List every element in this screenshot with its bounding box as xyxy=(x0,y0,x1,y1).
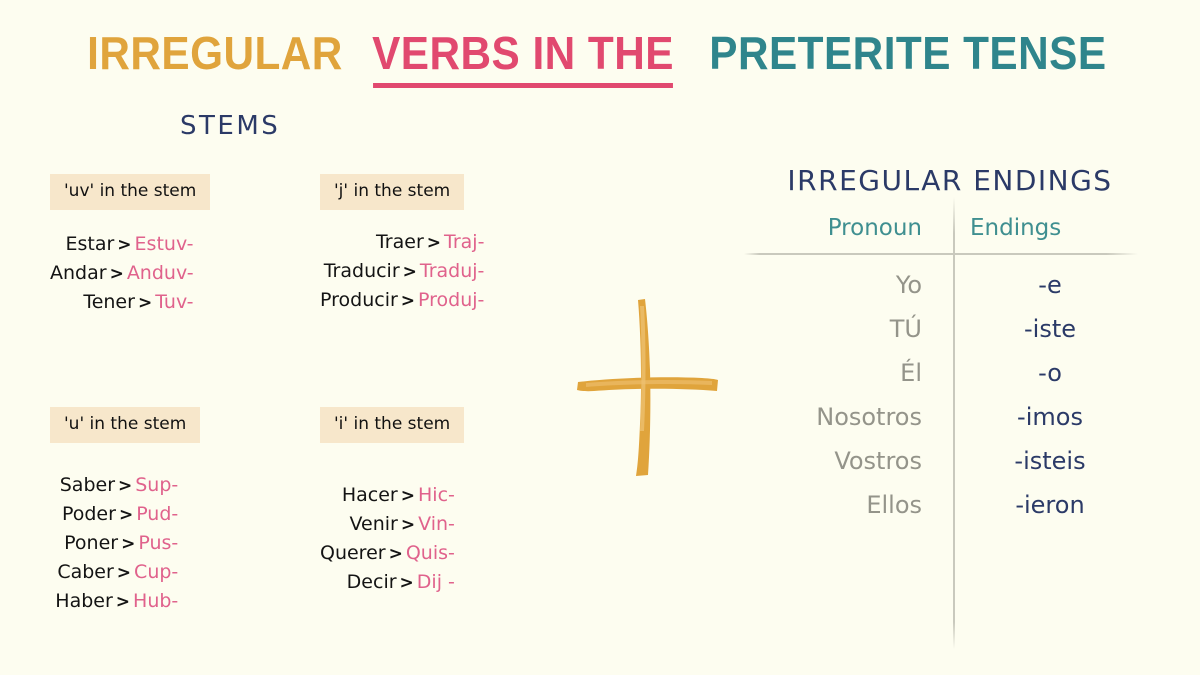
stem-row: Traer>Traj- xyxy=(376,228,484,257)
stem-infinitive: Producir xyxy=(320,289,398,311)
arrow-icon: > xyxy=(116,505,136,525)
ending-cell: -iste xyxy=(950,315,1150,343)
endings-panel: IRREGULAR ENDINGS Pronoun Endings Yo -e … xyxy=(740,164,1160,519)
arrow-icon: > xyxy=(115,476,135,496)
stem-row: Haber>Hub- xyxy=(55,587,178,616)
stem-row-list: Estar>Estuv- Andar>Anduv- Tener>Tuv- xyxy=(50,230,216,317)
arrow-icon: > xyxy=(114,235,134,255)
stems-heading: STEMS xyxy=(180,111,280,141)
stem-infinitive: Hacer xyxy=(342,484,398,506)
ending-cell: -imos xyxy=(950,403,1150,431)
stem-result: Hub- xyxy=(133,590,178,612)
title-part-preterite-tense: PRETERITE TENSE xyxy=(709,26,1106,80)
pronoun-cell: Nosotros xyxy=(740,403,950,431)
stem-infinitive: Haber xyxy=(55,590,113,612)
table-header-rule xyxy=(744,253,1138,255)
table-row: Nosotros -imos xyxy=(740,403,1160,431)
endings-table: Pronoun Endings Yo -e TÚ -iste Él -o Nos… xyxy=(740,215,1160,519)
ending-cell: -ieron xyxy=(950,491,1150,519)
arrow-icon: > xyxy=(400,262,420,282)
page-title: IRREGULAR VERBS IN THE PRETERITE TENSE xyxy=(0,26,1200,82)
arrow-icon: > xyxy=(424,233,444,253)
stem-group-i: 'i' in the stem Hacer>Hic- Venir>Vin- Qu… xyxy=(320,407,477,597)
ending-cell: -e xyxy=(950,271,1150,299)
stem-result: Estuv- xyxy=(135,233,194,255)
arrow-icon: > xyxy=(398,291,418,311)
stem-infinitive: Estar xyxy=(65,233,114,255)
stem-group-label: 'i' in the stem xyxy=(320,407,464,443)
stem-group-label: 'j' in the stem xyxy=(320,174,464,210)
stem-result: Anduv- xyxy=(127,262,194,284)
stem-group-u: 'u' in the stem Saber>Sup- Poder>Pud- Po… xyxy=(50,407,200,615)
stem-row: Andar>Anduv- xyxy=(50,259,194,288)
stem-infinitive: Querer xyxy=(320,542,386,564)
title-part-verbs-in-the: VERBS IN THE xyxy=(372,26,674,82)
stem-row: Poder>Pud- xyxy=(62,500,178,529)
stem-row: Estar>Estuv- xyxy=(65,230,193,259)
ending-cell: -o xyxy=(950,359,1150,387)
stem-result: Dij - xyxy=(417,571,455,593)
pronoun-cell: Vostros xyxy=(740,447,950,475)
title-part-irregular: IRREGULAR xyxy=(87,26,343,80)
stem-infinitive: Caber xyxy=(57,561,113,583)
table-column-divider xyxy=(953,197,955,649)
stem-row: Poner>Pus- xyxy=(64,529,178,558)
stem-infinitive: Tener xyxy=(83,291,135,313)
stem-row: Venir>Vin- xyxy=(350,510,455,539)
stem-result: Tuv- xyxy=(155,291,193,313)
stem-result: Hic- xyxy=(418,484,455,506)
arrow-icon: > xyxy=(118,534,138,554)
ending-cell: -isteis xyxy=(950,447,1150,475)
stem-group-j: 'j' in the stem Traer>Traj- Traducir>Tra… xyxy=(320,174,492,315)
stem-result: Pud- xyxy=(136,503,178,525)
stem-row: Tener>Tuv- xyxy=(83,288,193,317)
pronoun-cell: Ellos xyxy=(740,491,950,519)
table-row: TÚ -iste xyxy=(740,315,1160,343)
arrow-icon: > xyxy=(398,486,418,506)
column-header-pronoun: Pronoun xyxy=(740,215,950,241)
table-row: Ellos -ieron xyxy=(740,491,1160,519)
stem-result: Vin- xyxy=(418,513,455,535)
stem-result: Sup- xyxy=(135,474,178,496)
arrow-icon: > xyxy=(397,573,417,593)
plus-icon xyxy=(572,296,722,481)
stem-row: Querer>Quis- xyxy=(320,539,455,568)
stem-infinitive: Saber xyxy=(60,474,115,496)
pronoun-cell: Yo xyxy=(740,271,950,299)
stem-row: Decir>Dij - xyxy=(347,568,455,597)
table-row: Él -o xyxy=(740,359,1160,387)
stem-result: Traj- xyxy=(444,231,484,253)
arrow-icon: > xyxy=(114,563,134,583)
stem-row-list: Saber>Sup- Poder>Pud- Poner>Pus- Caber>C… xyxy=(50,471,200,615)
arrow-icon: > xyxy=(398,515,418,535)
stem-row: Traducir>Traduj- xyxy=(324,257,485,286)
stem-group-label: 'u' in the stem xyxy=(50,407,200,443)
arrow-icon: > xyxy=(107,264,127,284)
stem-infinitive: Traer xyxy=(376,231,424,253)
stem-row: Hacer>Hic- xyxy=(342,481,455,510)
stem-row: Caber>Cup- xyxy=(57,558,178,587)
stem-result: Produj- xyxy=(418,289,484,311)
table-header-row: Pronoun Endings xyxy=(740,215,1160,253)
pronoun-cell: Él xyxy=(740,359,950,387)
table-row: Yo -e xyxy=(740,271,1160,299)
stem-result: Quis- xyxy=(406,542,455,564)
stem-result: Traduj- xyxy=(420,260,485,282)
table-row: Vostros -isteis xyxy=(740,447,1160,475)
stem-group-label: 'uv' in the stem xyxy=(50,174,210,210)
endings-heading: IRREGULAR ENDINGS xyxy=(740,164,1160,197)
stem-row: Saber>Sup- xyxy=(60,471,179,500)
stem-infinitive: Andar xyxy=(50,262,107,284)
stem-infinitive: Decir xyxy=(347,571,397,593)
column-header-endings: Endings xyxy=(950,215,1150,241)
stem-row: Producir>Produj- xyxy=(320,286,484,315)
stem-infinitive: Poder xyxy=(62,503,116,525)
pronoun-cell: TÚ xyxy=(740,315,950,343)
stem-result: Pus- xyxy=(138,532,178,554)
arrow-icon: > xyxy=(135,293,155,313)
stem-infinitive: Traducir xyxy=(324,260,400,282)
stem-group-uv: 'uv' in the stem Estar>Estuv- Andar>Andu… xyxy=(50,174,216,317)
stem-infinitive: Venir xyxy=(350,513,398,535)
stem-row-list: Hacer>Hic- Venir>Vin- Querer>Quis- Decir… xyxy=(320,481,477,597)
stem-row-list: Traer>Traj- Traducir>Traduj- Producir>Pr… xyxy=(320,228,492,315)
stem-infinitive: Poner xyxy=(64,532,118,554)
arrow-icon: > xyxy=(113,592,133,612)
stem-result: Cup- xyxy=(134,561,178,583)
arrow-icon: > xyxy=(386,544,406,564)
